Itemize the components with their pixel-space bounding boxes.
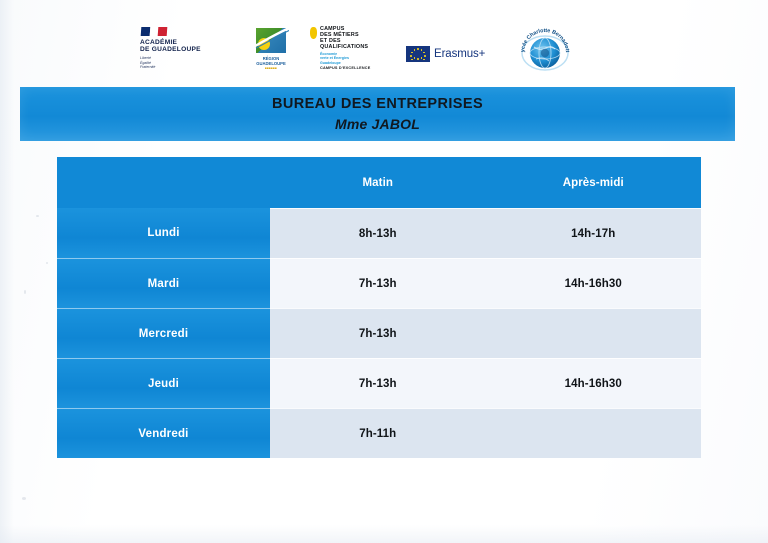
header-cell-apresmidi: Après-midi xyxy=(486,157,702,208)
table-row: Jeudi 7h-13h 14h-16h30 xyxy=(57,358,701,408)
row-apresmidi-value: 14h-16h30 xyxy=(486,258,702,308)
row-matin-value: 7h-13h xyxy=(270,258,486,308)
table-header-row: Matin Après-midi xyxy=(57,157,701,208)
row-day-label: Jeudi xyxy=(57,358,270,408)
campus-leaf-icon xyxy=(310,27,317,39)
row-apresmidi-value xyxy=(486,308,702,358)
table-row: Lundi 8h-13h 14h-17h xyxy=(57,208,701,258)
table-row: Mercredi 7h-13h xyxy=(57,308,701,358)
campus-logo-title: CAMPUS DES MÉTIERS ET DES QUALIFICATIONS xyxy=(320,26,370,51)
french-flag-icon xyxy=(141,27,168,36)
academie-guadeloupe-logo: ACADÉMIE DE GUADELOUPE Liberté Égalité F… xyxy=(140,27,232,70)
table-row: Vendredi 7h-11h xyxy=(57,408,701,458)
region-guadeloupe-logo: RÉGION GUADELOUPE ■■■■■■ xyxy=(248,26,294,71)
row-apresmidi-value xyxy=(486,408,702,458)
eu-flag-icon xyxy=(406,46,430,62)
logo-strip: ACADÉMIE DE GUADELOUPE Liberté Égalité F… xyxy=(140,18,620,78)
row-day-label: Lundi xyxy=(57,208,270,258)
row-day-label: Mardi xyxy=(57,258,270,308)
table-row: Mardi 7h-13h 14h-16h30 xyxy=(57,258,701,308)
row-matin-value: 7h-13h xyxy=(270,308,486,358)
row-apresmidi-value: 14h-17h xyxy=(486,208,702,258)
title-banner: BUREAU DES ENTREPRISES Mme JABOL xyxy=(20,87,735,141)
lycee-globe-icon: Lycée Charlotte Bernadotte xyxy=(514,19,576,75)
header-cell-day xyxy=(57,157,270,208)
scan-edge-bottom xyxy=(0,525,768,543)
row-matin-value: 7h-13h xyxy=(270,358,486,408)
scan-speck xyxy=(36,215,39,217)
scan-speck xyxy=(24,290,26,294)
banner-subtitle: Mme JABOL xyxy=(335,114,420,134)
erasmus-plus-logo: Erasmus+ xyxy=(406,46,498,62)
scan-speck xyxy=(46,262,48,264)
scan-speck xyxy=(22,497,26,500)
scan-edge-left xyxy=(0,0,14,543)
campus-logo-code: CAMPUS D'EXCELLENCE xyxy=(320,66,370,70)
republic-motto: Liberté Égalité Fraternité xyxy=(140,56,232,69)
campus-logo-subtitle: Économie verte et Énergies Guadeloupe xyxy=(320,52,370,65)
region-emblem-icon xyxy=(253,26,289,56)
region-logo-subtitle: ■■■■■■ xyxy=(265,66,277,70)
academie-logo-name: ACADÉMIE DE GUADELOUPE xyxy=(140,39,232,54)
campus-des-metiers-logo: CAMPUS DES MÉTIERS ET DES QUALIFICATIONS… xyxy=(310,26,390,70)
region-swoosh-icon xyxy=(254,27,289,49)
row-apresmidi-value: 14h-16h30 xyxy=(486,358,702,408)
erasmus-wordmark: Erasmus+ xyxy=(434,48,485,60)
banner-title: BUREAU DES ENTREPRISES xyxy=(272,95,483,113)
row-matin-value: 7h-11h xyxy=(270,408,486,458)
row-matin-value: 8h-13h xyxy=(270,208,486,258)
header-cell-matin: Matin xyxy=(270,157,486,208)
region-logo-name: RÉGION GUADELOUPE xyxy=(256,57,286,67)
schedule-table: Matin Après-midi Lundi 8h-13h 14h-17h Ma… xyxy=(57,157,701,458)
row-day-label: Vendredi xyxy=(57,408,270,458)
lycee-logo: Lycée Charlotte Bernadotte xyxy=(514,19,576,75)
document-page: ACADÉMIE DE GUADELOUPE Liberté Égalité F… xyxy=(0,0,768,543)
row-day-label: Mercredi xyxy=(57,308,270,358)
